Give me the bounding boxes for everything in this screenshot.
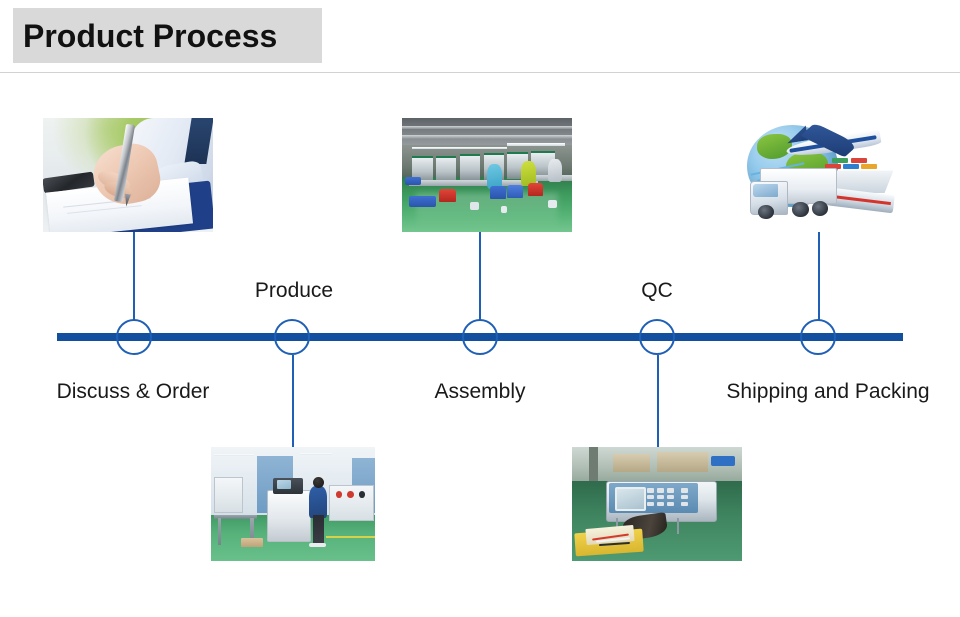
timeline-label-assembly: Assembly: [434, 381, 525, 402]
background-post: [589, 447, 598, 481]
keypad-key: [681, 488, 688, 493]
table-leg: [218, 518, 221, 545]
keypad-key: [667, 502, 674, 507]
truck-windshield: [753, 184, 777, 197]
qc-tester-photo: [572, 447, 742, 561]
cnc-machine: [267, 490, 312, 542]
stool: [439, 189, 456, 203]
worker-shoe: [309, 543, 325, 548]
worker-torso: [309, 486, 327, 518]
timeline-label-discuss-order: Discuss & Order: [57, 381, 210, 402]
floor-reflection: [416, 193, 559, 227]
background-bin: [711, 456, 735, 466]
keypad-key: [657, 488, 664, 493]
product-process-slide: Product Process Discuss & Order Produce: [0, 0, 960, 617]
tester-display: [615, 487, 646, 512]
worker: [487, 164, 502, 189]
node-bar-segment: [643, 333, 671, 341]
shipping-container: [851, 158, 867, 163]
stool: [490, 186, 505, 199]
timeline-label-produce: Produce: [255, 280, 333, 301]
keypad-key: [667, 488, 674, 493]
floor-item: [501, 206, 508, 213]
ceiling-lamp: [300, 453, 333, 455]
ceiling-lamp: [214, 454, 253, 456]
light-tube: [412, 147, 507, 150]
node-bar-segment: [120, 333, 148, 341]
page-title: Product Process: [13, 20, 277, 52]
background-shelf: [657, 452, 708, 473]
machine-screen: [277, 480, 292, 489]
timeline-label-shipping-packing: Shipping and Packing: [726, 381, 929, 402]
side-cabinet: [214, 477, 242, 513]
title-band: Product Process: [13, 8, 322, 63]
workshop-operator-photo: [211, 447, 375, 561]
timeline-node-qc[interactable]: [639, 319, 675, 355]
blue-crate: [409, 196, 436, 207]
timeline-node-discuss-order[interactable]: [116, 319, 152, 355]
assembly-line-photo: [402, 118, 572, 232]
timeline-node-produce[interactable]: [274, 319, 310, 355]
keypad-key: [647, 488, 654, 493]
connector-stem-shipping-packing: [818, 232, 820, 320]
header-divider: [0, 72, 960, 73]
floor-item: [548, 200, 557, 208]
control-cabinet: [329, 485, 374, 521]
keypad-key: [657, 502, 664, 507]
shipping-container: [832, 158, 848, 163]
worker-legs: [313, 515, 324, 545]
ceiling-beam: [402, 126, 572, 129]
shipping-container: [861, 164, 877, 169]
ceiling-beam: [402, 135, 572, 138]
worker: [548, 159, 562, 182]
timeline-node-assembly[interactable]: [462, 319, 498, 355]
stool: [528, 183, 543, 196]
cabinet-indicator: [347, 491, 354, 498]
keypad-key: [681, 495, 688, 500]
cardboard-box: [241, 538, 264, 547]
node-bar-segment: [466, 333, 494, 341]
logistics-photo: [737, 118, 900, 232]
light-tube: [507, 143, 565, 146]
assembly-machine: [460, 154, 480, 181]
keypad-key: [667, 495, 674, 500]
background-shelf: [613, 454, 650, 472]
timeline-node-shipping-packing[interactable]: [800, 319, 836, 355]
keypad-key: [657, 495, 664, 500]
node-bar-segment: [278, 333, 306, 341]
tester-leg: [677, 518, 679, 534]
connector-stem-assembly: [479, 232, 481, 320]
connector-stem-qc: [657, 355, 659, 447]
floor-item: [470, 202, 479, 210]
keypad-key: [647, 495, 654, 500]
connector-stem-discuss-order: [133, 232, 135, 320]
truck-wheel: [792, 202, 808, 217]
floor-marking: [326, 536, 375, 538]
timeline-label-qc: QC: [641, 280, 673, 301]
worker-head: [313, 477, 324, 488]
node-bar-segment: [804, 333, 832, 341]
blue-crate: [405, 177, 420, 185]
keypad-key: [681, 502, 688, 507]
keypad-key: [647, 502, 654, 507]
shipping-container: [843, 164, 859, 169]
signing-document-photo: [43, 118, 213, 232]
connector-stem-produce: [292, 355, 294, 447]
stool: [507, 185, 522, 198]
